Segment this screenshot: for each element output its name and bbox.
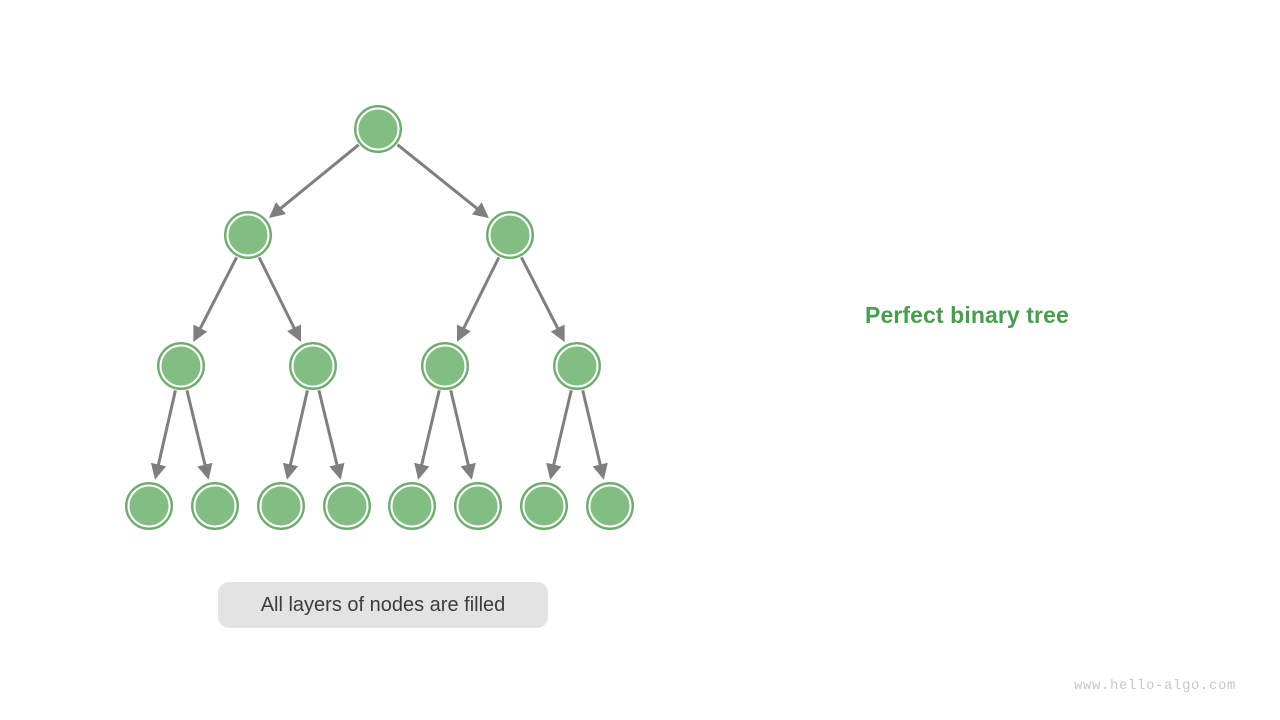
tree-node — [158, 343, 204, 389]
node-fill — [558, 347, 596, 385]
tree-node — [192, 483, 238, 529]
tree-edge — [551, 390, 571, 476]
node-fill — [426, 347, 464, 385]
node-fill — [525, 487, 563, 525]
tree-edge — [419, 390, 439, 476]
tree-node — [389, 483, 435, 529]
tree-edge-layer — [156, 145, 603, 477]
node-fill — [359, 110, 397, 148]
tree-edge — [288, 390, 308, 476]
node-fill — [294, 347, 332, 385]
node-fill — [262, 487, 300, 525]
tree-edge — [156, 390, 176, 476]
node-fill — [591, 487, 629, 525]
node-fill — [162, 347, 200, 385]
tree-edge — [583, 390, 603, 476]
tree-node — [521, 483, 567, 529]
tree-edge — [187, 390, 208, 477]
node-fill — [229, 216, 267, 254]
tree-node — [225, 212, 271, 258]
node-fill — [491, 216, 529, 254]
node-fill — [196, 487, 234, 525]
tree-node — [587, 483, 633, 529]
tree-edge — [451, 390, 471, 476]
tree-node — [422, 343, 468, 389]
binary-tree-diagram — [0, 0, 1280, 720]
node-fill — [393, 487, 431, 525]
tree-edge — [319, 390, 340, 477]
tree-node — [487, 212, 533, 258]
tree-node — [290, 343, 336, 389]
watermark: www.hello-algo.com — [1074, 678, 1236, 694]
tree-node — [258, 483, 304, 529]
node-fill — [459, 487, 497, 525]
node-fill — [328, 487, 366, 525]
tree-node — [554, 343, 600, 389]
tree-node-layer — [126, 106, 633, 529]
tree-edge — [458, 257, 499, 339]
tree-node — [324, 483, 370, 529]
tree-edge — [271, 145, 358, 216]
tree-edge — [397, 145, 486, 217]
caption-text: All layers of nodes are filled — [261, 594, 506, 617]
tree-edge — [521, 257, 563, 339]
tree-edge — [259, 257, 300, 339]
caption-badge: All layers of nodes are filled — [218, 582, 548, 628]
page-title: Perfect binary tree — [865, 302, 1069, 329]
node-fill — [130, 487, 168, 525]
tree-node — [355, 106, 401, 152]
tree-node — [126, 483, 172, 529]
tree-edge — [195, 257, 237, 339]
tree-node — [455, 483, 501, 529]
